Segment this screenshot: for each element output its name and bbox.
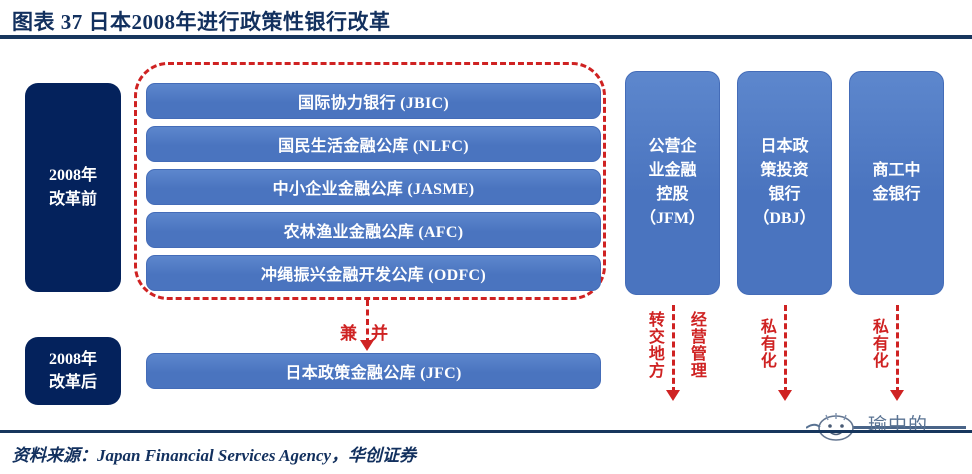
bank-bar-nlfc: 国民生活金融公库 (NLFC) bbox=[146, 126, 601, 162]
source-note: 资料来源：Japan Financial Services Agency，华创证… bbox=[12, 441, 416, 466]
dbj-action-label: 私有化 bbox=[757, 318, 775, 369]
stage-box-after-reform: 2008年 改革后 bbox=[25, 337, 121, 405]
title-divider bbox=[0, 35, 972, 39]
merge-label-char2: 并 bbox=[371, 319, 388, 344]
entity-box-jfm: 公营企 业金融 控股 （JFM） bbox=[625, 71, 720, 295]
footer-divider bbox=[0, 430, 972, 433]
cartoon-face-icon bbox=[806, 412, 862, 442]
entity-box-dbj: 日本政 策投资 银行 （DBJ） bbox=[737, 71, 832, 295]
entity-dbj-line2: 策投资 bbox=[753, 159, 815, 183]
jfm-action-label-right: 经营管理 bbox=[687, 311, 705, 379]
stage-before-line2: 改革前 bbox=[49, 188, 97, 211]
entity-jfm-line4: （JFM） bbox=[640, 207, 705, 231]
stage-before-line1: 2008年 bbox=[49, 164, 97, 187]
bank-bar-jbic: 国际协力银行 (JBIC) bbox=[146, 83, 601, 119]
entity-box-shoko-chukin: 商工中 金银行 bbox=[849, 71, 944, 295]
watermark: 瑜中的 bbox=[800, 400, 970, 446]
jfm-arrow-head-icon bbox=[666, 390, 680, 401]
figure-canvas: 图表 37 日本2008年进行政策性银行改革 2008年 改革前 2008年 改… bbox=[0, 0, 972, 474]
entity-jfm-line1: 公营企 bbox=[640, 135, 705, 159]
jfm-arrow-line bbox=[672, 305, 675, 393]
merge-label-char1: 兼 bbox=[340, 319, 357, 344]
stage-after-line1: 2008年 bbox=[49, 348, 97, 371]
stage-box-before-reform: 2008年 改革前 bbox=[25, 83, 121, 292]
shoko-chukin-arrow-line bbox=[896, 305, 899, 393]
entity-scb-line1: 商工中 bbox=[872, 159, 920, 183]
entity-dbj-line3: 银行 bbox=[753, 183, 815, 207]
shoko-chukin-action-label: 私有化 bbox=[869, 318, 887, 369]
entity-jfm-line2: 业金融 bbox=[640, 159, 705, 183]
bank-bar-jfc: 日本政策金融公库 (JFC) bbox=[146, 353, 601, 389]
merge-arrow-line bbox=[366, 300, 369, 344]
entity-jfm-line3: 控股 bbox=[640, 183, 705, 207]
entity-dbj-line4: （DBJ） bbox=[753, 207, 815, 231]
page-title: 图表 37 日本2008年进行政策性银行改革 bbox=[12, 6, 391, 36]
entity-scb-line2: 金银行 bbox=[872, 183, 920, 207]
entity-dbj-line1: 日本政 bbox=[753, 135, 815, 159]
dbj-arrow-line bbox=[784, 305, 787, 393]
bank-bar-afc: 农林渔业金融公库 (AFC) bbox=[146, 212, 601, 248]
jfm-action-label-left: 转交地方 bbox=[645, 311, 663, 379]
dbj-arrow-head-icon bbox=[778, 390, 792, 401]
bank-bar-odfc: 冲绳振兴金融开发公库 (ODFC) bbox=[146, 255, 601, 291]
stage-after-line2: 改革后 bbox=[49, 371, 97, 394]
bank-bar-jasme: 中小企业金融公库 (JASME) bbox=[146, 169, 601, 205]
